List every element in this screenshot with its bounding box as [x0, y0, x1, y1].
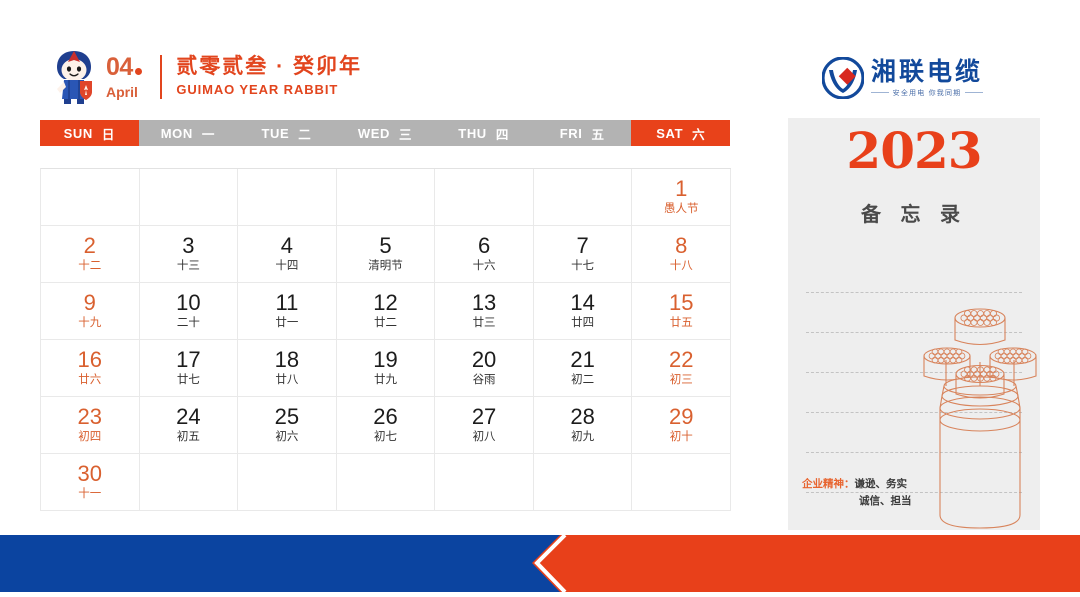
- weekday-label-en: FRI: [560, 126, 583, 141]
- weekday-label-cn: 三: [399, 124, 412, 143]
- bottom-banner: [0, 535, 1080, 592]
- corporate-spirit-block: 企业精神：谦逊、务实 诚信、担当: [802, 476, 912, 511]
- lunar-label: 二十: [177, 316, 200, 332]
- calendar-day-cell[interactable]: 15廿五: [632, 283, 731, 340]
- lunar-label: 清明节: [368, 259, 403, 275]
- corporate-spirit-row1: 企业精神：谦逊、务实: [802, 476, 912, 493]
- calendar-day-cell[interactable]: 1愚人节: [632, 169, 731, 226]
- day-number: 13: [472, 291, 496, 314]
- memo-title: 备 忘 录: [788, 198, 1040, 227]
- weekday-header-thu: THU四: [434, 120, 533, 146]
- year-block: 贰零贰叁 · 癸卯年 GUIMAO YEAR RABBIT: [176, 55, 362, 99]
- weekday-label-en: MON: [161, 126, 193, 141]
- rabbit-calligraphy-2023-icon: 2023: [788, 126, 1040, 176]
- lunar-label: 十九: [78, 316, 101, 332]
- banner-left-section: [0, 535, 560, 592]
- tagline-rule-right-icon: [965, 92, 983, 93]
- weekday-label-en: SUN: [64, 126, 93, 141]
- calendar-cell-empty: [337, 169, 436, 226]
- lunar-label: 初二: [571, 373, 594, 389]
- year-english: GUIMAO YEAR RABBIT: [176, 82, 362, 99]
- calendar-day-cell[interactable]: 11廿一: [238, 283, 337, 340]
- lunar-label: 初八: [473, 430, 496, 446]
- tagline-rule-left-icon: [871, 92, 889, 93]
- calendar-cell-empty: [435, 169, 534, 226]
- weekday-header-tue: TUE二: [237, 120, 336, 146]
- day-number: 26: [373, 405, 397, 428]
- lunar-label: 初五: [177, 430, 200, 446]
- calendar-day-cell[interactable]: 8十八: [632, 226, 731, 283]
- weekday-label-en: TUE: [261, 126, 289, 141]
- corporate-spirit-line2: 诚信、担当: [859, 495, 912, 507]
- calendar-day-cell[interactable]: 27初八: [435, 397, 534, 454]
- lunar-label: 初七: [374, 430, 397, 446]
- weekday-label-cn: 六: [692, 124, 705, 143]
- calendar-day-cell[interactable]: 20谷雨: [435, 340, 534, 397]
- corporate-spirit-row2: 诚信、担当: [859, 493, 912, 510]
- corporate-spirit-line1: 谦逊、务实: [855, 478, 908, 490]
- calendar-day-cell[interactable]: 25初六: [238, 397, 337, 454]
- day-number: 16: [78, 348, 102, 371]
- weekday-label-cn: 日: [102, 124, 115, 143]
- lunar-label: 十七: [571, 259, 594, 275]
- day-number: 9: [84, 291, 96, 314]
- weekday-label-cn: 四: [496, 124, 509, 143]
- calendar-cell-empty: [238, 454, 337, 511]
- lunar-label: 十四: [275, 259, 298, 275]
- weekday-label-en: WED: [358, 126, 390, 141]
- lunar-label: 初十: [670, 430, 693, 446]
- day-number: 22: [669, 348, 693, 371]
- month-number-row: 04: [106, 55, 142, 80]
- corporate-spirit-label: 企业精神：: [802, 478, 855, 490]
- month-block: 04 April: [106, 55, 142, 99]
- lunar-label: 廿五: [670, 316, 693, 332]
- calendar-header: 04 April 贰零贰叁 · 癸卯年 GUIMAO YEAR RABBIT: [52, 46, 362, 108]
- calendar-day-cell[interactable]: 26初七: [337, 397, 436, 454]
- calendar-day-cell[interactable]: 3十三: [140, 226, 239, 283]
- day-number: 11: [276, 291, 299, 314]
- calendar-page: 04 April 贰零贰叁 · 癸卯年 GUIMAO YEAR RABBIT S…: [0, 0, 1080, 592]
- lunar-label: 十二: [78, 259, 101, 275]
- calendar-day-cell[interactable]: 24初五: [140, 397, 239, 454]
- day-number: 28: [570, 405, 594, 428]
- calendar-cell-empty: [41, 169, 140, 226]
- calendar-day-cell[interactable]: 18廿八: [238, 340, 337, 397]
- mascot-character-icon: [52, 49, 96, 105]
- day-number: 20: [472, 348, 496, 371]
- calendar-cell-empty: [140, 169, 239, 226]
- lunar-label: 十八: [670, 259, 693, 275]
- day-number: 15: [669, 291, 693, 314]
- day-number: 27: [472, 405, 496, 428]
- day-number: 1: [675, 177, 687, 200]
- day-number: 5: [379, 234, 391, 257]
- calendar-day-cell[interactable]: 7十七: [534, 226, 633, 283]
- weekday-label-cn: 一: [202, 124, 215, 143]
- lunar-label: 初六: [275, 430, 298, 446]
- day-number: 25: [275, 405, 299, 428]
- lunar-label: 初四: [78, 430, 101, 446]
- shield-diamond-emblem-icon: [822, 57, 864, 99]
- company-logo: 湘联电缆 安全用电 你我同期: [822, 57, 983, 99]
- lunar-label: 谷雨: [473, 373, 496, 389]
- lunar-label: 廿三: [473, 316, 496, 332]
- weekday-label-cn: 二: [298, 124, 311, 143]
- day-number: 6: [478, 234, 490, 257]
- day-number: 8: [675, 234, 687, 257]
- cable-cross-section-icon: [910, 300, 1050, 535]
- calendar-day-cell[interactable]: 13廿三: [435, 283, 534, 340]
- calendar-cell-empty: [632, 454, 731, 511]
- weekday-header-wed: WED三: [336, 120, 435, 146]
- day-number: 24: [176, 405, 200, 428]
- calendar-day-cell[interactable]: 19廿九: [337, 340, 436, 397]
- weekday-header-bar: SUN日MON一TUE二WED三THU四FRI五SAT六: [40, 120, 730, 146]
- calendar-day-cell[interactable]: 2十二: [41, 226, 140, 283]
- logo-tagline-row: 安全用电 你我同期: [871, 88, 983, 98]
- weekday-label-cn: 五: [592, 124, 605, 143]
- day-number: 3: [182, 234, 194, 257]
- lunar-label: 十三: [177, 259, 200, 275]
- calendar-day-cell[interactable]: 17廿七: [140, 340, 239, 397]
- calendar-day-cell[interactable]: 5清明节: [337, 226, 436, 283]
- lunar-label: 十一: [78, 487, 101, 503]
- calendar-day-cell[interactable]: 22初三: [632, 340, 731, 397]
- calendar-day-cell[interactable]: 14廿四: [534, 283, 633, 340]
- logo-text-block: 湘联电缆 安全用电 你我同期: [871, 59, 983, 98]
- weekday-label-en: SAT: [656, 126, 683, 141]
- weekday-header-mon: MON一: [139, 120, 238, 146]
- calendar-cell-empty: [337, 454, 436, 511]
- day-number: 23: [78, 405, 102, 428]
- day-number: 2: [84, 234, 96, 257]
- calendar-day-cell[interactable]: 28初九: [534, 397, 633, 454]
- lunar-label: 初三: [670, 373, 693, 389]
- weekday-header-sat: SAT六: [631, 120, 730, 146]
- lunar-label: 愚人节: [664, 202, 699, 218]
- day-number: 18: [275, 348, 299, 371]
- calendar-day-cell[interactable]: 10二十: [140, 283, 239, 340]
- day-number: 14: [570, 291, 594, 314]
- lunar-label: 廿六: [78, 373, 101, 389]
- lunar-label: 廿八: [275, 373, 298, 389]
- calendar-day-cell[interactable]: 12廿二: [337, 283, 436, 340]
- calendar-cell-empty: [534, 454, 633, 511]
- day-number: 19: [373, 348, 397, 371]
- month-name-english: April: [106, 85, 142, 99]
- logo-tagline: 安全用电 你我同期: [893, 88, 962, 98]
- vertical-divider-icon: [160, 55, 163, 99]
- lunar-label: 廿四: [571, 316, 594, 332]
- month-dot-icon: [135, 68, 142, 75]
- year-chinese: 贰零贰叁 · 癸卯年: [176, 55, 362, 79]
- calendar-day-cell[interactable]: 21初二: [534, 340, 633, 397]
- calendar-day-cell[interactable]: 30十一: [41, 454, 140, 511]
- day-number: 29: [669, 405, 693, 428]
- lunar-label: 廿七: [177, 373, 200, 389]
- day-number: 7: [577, 234, 589, 257]
- calendar-grid: 1愚人节2十二3十三4十四5清明节6十六7十七8十八9十九10二十11廿一12廿…: [40, 168, 731, 511]
- lunar-label: 廿二: [374, 316, 397, 332]
- memo-line[interactable]: [806, 253, 1022, 293]
- lunar-label: 廿九: [374, 373, 397, 389]
- month-number: 04: [106, 55, 133, 80]
- calendar-day-cell[interactable]: 23初四: [41, 397, 140, 454]
- weekday-header-sun: SUN日: [40, 120, 139, 146]
- day-number: 10: [176, 291, 200, 314]
- lunar-label: 十六: [473, 259, 496, 275]
- weekday-header-fri: FRI五: [533, 120, 632, 146]
- company-name-chinese: 湘联电缆: [871, 59, 983, 84]
- calendar-day-cell[interactable]: 6十六: [435, 226, 534, 283]
- calendar-day-cell[interactable]: 16廿六: [41, 340, 140, 397]
- calendar-day-cell[interactable]: 9十九: [41, 283, 140, 340]
- day-number: 17: [176, 348, 200, 371]
- lunar-label: 初九: [571, 430, 594, 446]
- calendar-cell-empty: [140, 454, 239, 511]
- day-number: 21: [570, 348, 594, 371]
- calendar-day-cell[interactable]: 4十四: [238, 226, 337, 283]
- day-number: 30: [78, 462, 102, 485]
- calendar-cell-empty: [435, 454, 534, 511]
- lunar-label: 廿一: [275, 316, 298, 332]
- day-number: 4: [281, 234, 293, 257]
- calendar-cell-empty: [238, 169, 337, 226]
- day-number: 12: [373, 291, 397, 314]
- calendar-day-cell[interactable]: 29初十: [632, 397, 731, 454]
- calendar-cell-empty: [534, 169, 633, 226]
- weekday-label-en: THU: [458, 126, 487, 141]
